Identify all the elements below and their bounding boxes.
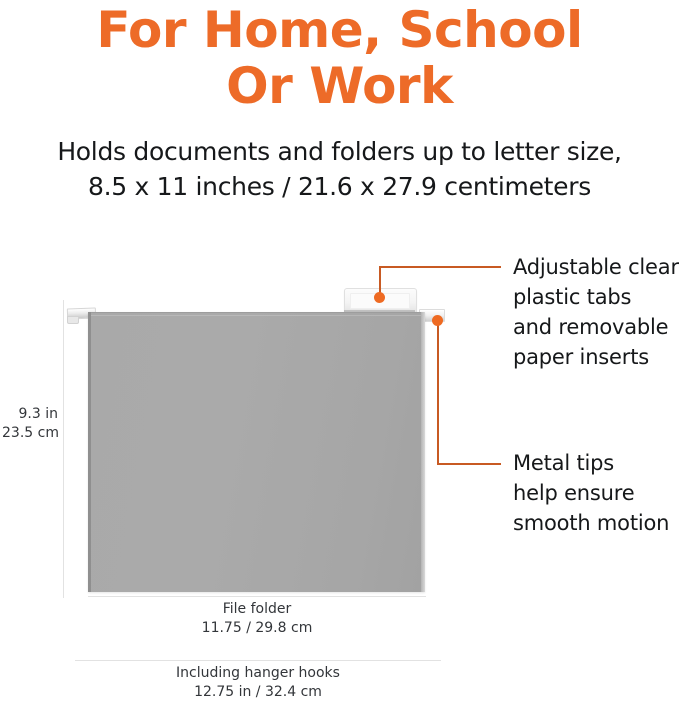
dimension-label-folder-width: File folder 11.75 / 29.8 cm xyxy=(88,600,426,638)
callout-leader-horizontal-tabs xyxy=(379,266,501,268)
hooks-width-guide-line xyxy=(75,660,441,661)
callout-marker-dot-metal-tips xyxy=(432,315,443,326)
dimension-value-inches: 9.3 in xyxy=(2,405,58,424)
callout-text-line: paper inserts xyxy=(513,342,679,372)
folder-width-guide-line xyxy=(88,596,426,597)
callout-marker-dot-tabs xyxy=(374,292,385,303)
callout-leader-horizontal-metal-tips xyxy=(437,463,501,465)
callout-text-line: smooth motion xyxy=(513,508,669,538)
file-folder-spine xyxy=(88,312,91,592)
callout-text-line: Metal tips xyxy=(513,448,669,478)
callout-text-line: Adjustable clear xyxy=(513,252,679,282)
callout-leader-vertical-metal-tips xyxy=(437,320,439,465)
callout-text-metal-tips: Metal tips help ensure smooth motion xyxy=(513,448,669,538)
height-guide-line xyxy=(63,300,64,598)
metal-tip-left xyxy=(67,316,79,324)
product-figure: Adjustable clear plastic tabs and remova… xyxy=(0,0,679,700)
dimension-label-hooks-width: Including hanger hooks 12.75 in / 32.4 c… xyxy=(75,664,441,702)
dimension-value: 12.75 in / 32.4 cm xyxy=(75,683,441,702)
dimension-value: 11.75 / 29.8 cm xyxy=(88,619,426,638)
dimension-value-centimeters: 23.5 cm xyxy=(2,424,58,443)
callout-text-line: plastic tabs xyxy=(513,282,679,312)
dimension-label-height: 9.3 in 23.5 cm xyxy=(2,405,58,443)
file-folder-body xyxy=(88,312,425,592)
file-folder-right-edge xyxy=(421,312,425,592)
callout-text-line: help ensure xyxy=(513,478,669,508)
dimension-caption: Including hanger hooks xyxy=(75,664,441,683)
callout-text-adjustable-tabs: Adjustable clear plastic tabs and remova… xyxy=(513,252,679,372)
dimension-caption: File folder xyxy=(88,600,426,619)
callout-text-line: and removable xyxy=(513,312,679,342)
